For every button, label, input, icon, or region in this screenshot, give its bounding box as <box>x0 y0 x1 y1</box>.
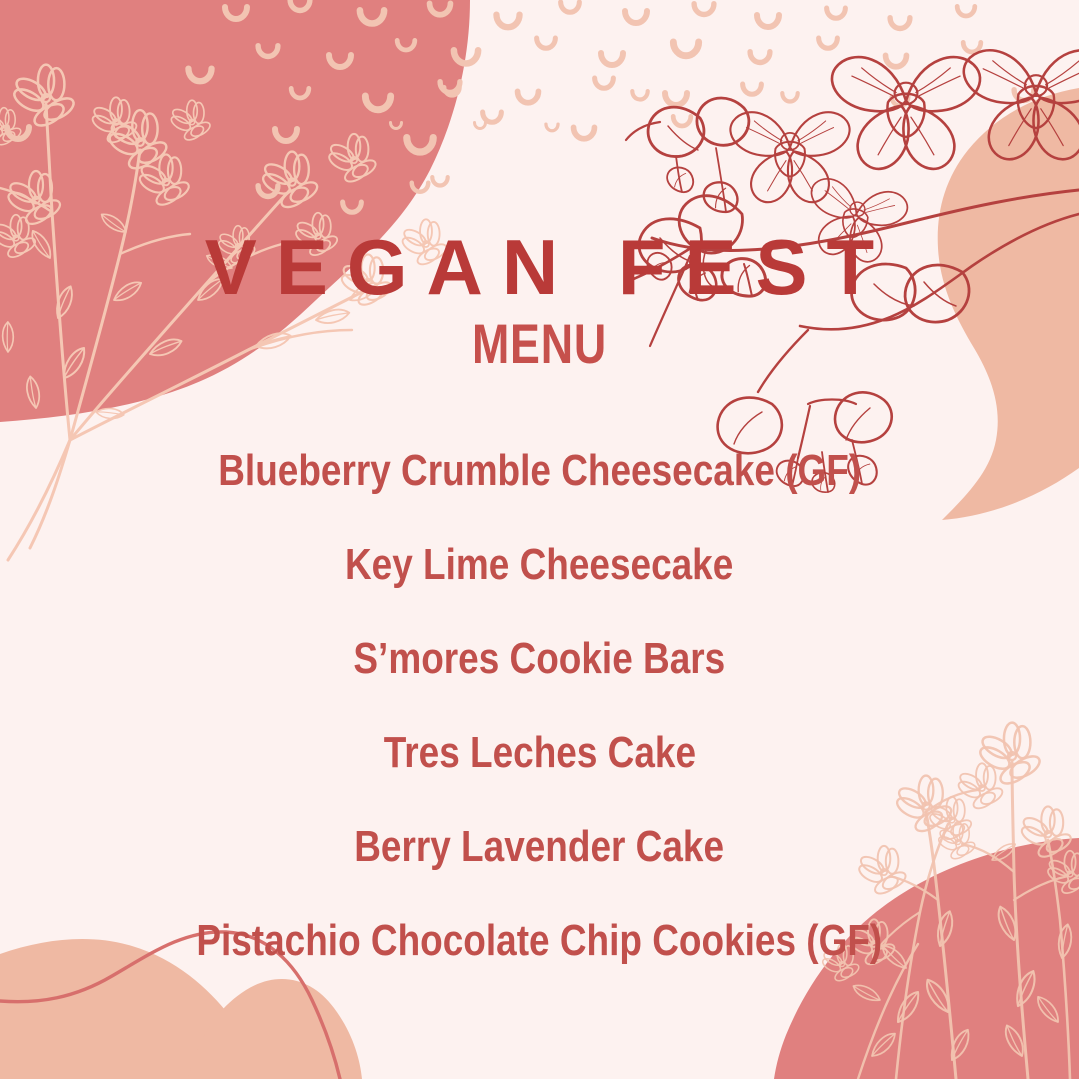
menu-item: Pistachio Chocolate Chip Cookies (GF) <box>0 894 1079 988</box>
menu-item: Tres Leches Cake <box>0 706 1079 800</box>
menu-item-label: S’mores Cookie Bars <box>354 612 726 706</box>
menu-item-label: Blueberry Crumble Cheesecake (GF) <box>218 424 861 518</box>
menu-item-label: Pistachio Chocolate Chip Cookies (GF) <box>197 894 883 988</box>
menu-list: Blueberry Crumble Cheesecake (GF) Key Li… <box>0 424 1079 988</box>
menu-item: Key Lime Cheesecake <box>0 518 1079 612</box>
menu-item-label: Berry Lavender Cake <box>355 800 725 894</box>
menu-item: S’mores Cookie Bars <box>0 612 1079 706</box>
poster-content: VEGAN FEST MENU Blueberry Crumble Cheese… <box>0 0 1079 1079</box>
menu-item: Blueberry Crumble Cheesecake (GF) <box>0 424 1079 518</box>
vegan-fest-menu-poster: VEGAN FEST MENU Blueberry Crumble Cheese… <box>0 0 1079 1079</box>
title-block: VEGAN FEST MENU <box>0 224 1079 374</box>
page-subtitle: MENU <box>108 314 971 374</box>
menu-item-label: Key Lime Cheesecake <box>345 518 733 612</box>
menu-item: Berry Lavender Cake <box>0 800 1079 894</box>
page-title: VEGAN FEST <box>0 224 1079 310</box>
menu-item-label: Tres Leches Cake <box>383 706 695 800</box>
